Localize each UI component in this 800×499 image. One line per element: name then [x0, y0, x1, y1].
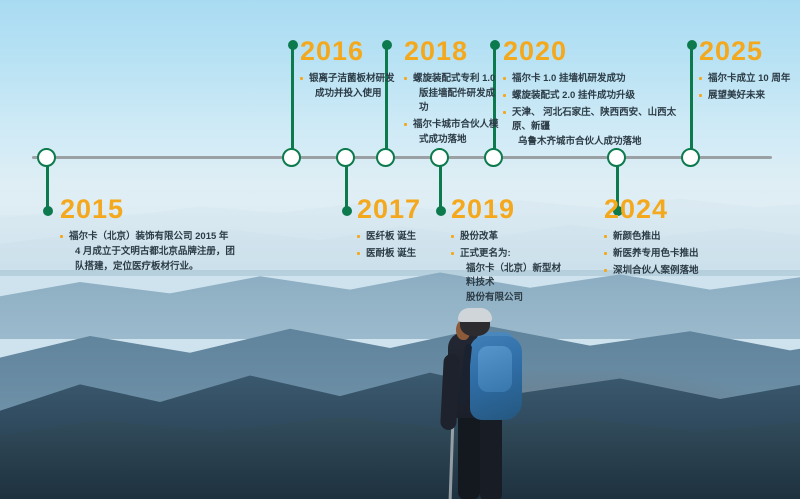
event-2018[interactable]: 2018 螺旋装配式专利 1.0 版挂墙配件研发成功 福尔卡城市合伙人模 式成功…: [404, 38, 504, 150]
year-label-2019: 2019: [451, 196, 561, 223]
bullet-item: 医耐板 诞生: [357, 247, 447, 261]
trekking-pole: [449, 420, 455, 499]
bullet-item: 螺旋装配式 2.0 挂件成功升级: [503, 89, 693, 103]
timeline-infographic: 2015 福尔卡（北京）装饰有限公司 2015 年 4 月成立于文明古都北京品牌…: [0, 0, 800, 499]
node-2015[interactable]: [37, 148, 56, 167]
year-label-2020: 2020: [503, 38, 693, 65]
year-label-2018: 2018: [404, 38, 504, 65]
bullet-item: 乌鲁木齐城市合伙人成功落地: [503, 135, 693, 149]
bullet-item: 福尔卡（北京）装饰有限公司 2015 年: [60, 230, 240, 244]
backpack-panel: [478, 346, 512, 392]
bullet-item: 福尔卡城市合伙人模: [404, 118, 504, 132]
node-2019[interactable]: [430, 148, 449, 167]
bullet-item: 深圳合伙人案例落地: [604, 264, 724, 278]
bullet-item: 福尔卡成立 10 周年: [699, 72, 799, 86]
bullet-item: 版挂墙配件研发成功: [404, 87, 504, 115]
event-2015[interactable]: 2015 福尔卡（北京）装饰有限公司 2015 年 4 月成立于文明古都北京品牌…: [60, 196, 240, 277]
year-label-2015: 2015: [60, 196, 240, 223]
event-2024[interactable]: 2024 新颜色推出 新医养专用色卡推出 深圳合伙人案例落地: [604, 196, 724, 281]
year-label-2024: 2024: [604, 196, 724, 223]
hiker-arm: [440, 354, 460, 431]
bullet-item: 银离子洁菌板材研发: [300, 72, 410, 86]
hiker-figure: [432, 308, 552, 499]
bullet-item: 股份有限公司: [451, 291, 561, 305]
bullet-item: 展望美好未来: [699, 89, 799, 103]
event-2017[interactable]: 2017 医纤板 诞生 医耐板 诞生: [357, 196, 447, 264]
bullet-item: 股份改革: [451, 230, 561, 244]
node-2018[interactable]: [376, 148, 395, 167]
bullet-item: 成功并投入使用: [300, 87, 410, 101]
year-label-2016: 2016: [300, 38, 410, 65]
node-2016[interactable]: [282, 148, 301, 167]
event-2025[interactable]: 2025 福尔卡成立 10 周年 展望美好未来: [699, 38, 799, 106]
bullet-list-2017: 医纤板 诞生 医耐板 诞生: [357, 230, 447, 261]
bullet-item: 螺旋装配式专利 1.0: [404, 72, 504, 86]
node-2017[interactable]: [336, 148, 355, 167]
bullet-list-2016: 银离子洁菌板材研发 成功并投入使用: [300, 72, 410, 101]
bullet-list-2024: 新颜色推出 新医养专用色卡推出 深圳合伙人案例落地: [604, 230, 724, 278]
hiker-leg-left: [458, 412, 480, 499]
bullet-item: 医纤板 诞生: [357, 230, 447, 244]
bullet-item: 新颜色推出: [604, 230, 724, 244]
bullet-list-2020: 福尔卡 1.0 挂墙机研发成功 螺旋装配式 2.0 挂件成功升级 天津、 河北石…: [503, 72, 693, 149]
node-2020[interactable]: [484, 148, 503, 167]
bullet-list-2018: 螺旋装配式专利 1.0 版挂墙配件研发成功 福尔卡城市合伙人模 式成功落地: [404, 72, 504, 147]
bullet-item: 式成功落地: [404, 133, 504, 147]
bullet-item: 天津、 河北石家庄、陕西西安、山西太原、新疆: [503, 106, 693, 134]
year-label-2017: 2017: [357, 196, 447, 223]
bullet-list-2019: 股份改革 正式更名为: 福尔卡（北京）新型材料技术 股份有限公司: [451, 230, 561, 305]
bullet-item: 新医养专用色卡推出: [604, 247, 724, 261]
event-2016[interactable]: 2016 银离子洁菌板材研发 成功并投入使用: [300, 38, 410, 104]
stem-2016: [291, 44, 294, 156]
event-2019[interactable]: 2019 股份改革 正式更名为: 福尔卡（北京）新型材料技术 股份有限公司: [451, 196, 561, 308]
bullet-item: 4 月成立于文明古都北京品牌注册，团: [60, 245, 240, 259]
bullet-item: 队搭建，定位医疗板材行业。: [60, 260, 240, 274]
event-2020[interactable]: 2020 福尔卡 1.0 挂墙机研发成功 螺旋装配式 2.0 挂件成功升级 天津…: [503, 38, 693, 152]
bullet-item: 福尔卡（北京）新型材料技术: [451, 262, 561, 290]
hiker-leg-right: [480, 412, 502, 499]
bullet-item: 福尔卡 1.0 挂墙机研发成功: [503, 72, 693, 86]
hiker-hat: [458, 308, 492, 322]
bullet-list-2015: 福尔卡（北京）装饰有限公司 2015 年 4 月成立于文明古都北京品牌注册，团 …: [60, 230, 240, 274]
bullet-item: 正式更名为:: [451, 247, 561, 261]
bullet-list-2025: 福尔卡成立 10 周年 展望美好未来: [699, 72, 799, 103]
timeline-axis: [32, 156, 772, 159]
year-label-2025: 2025: [699, 38, 799, 65]
